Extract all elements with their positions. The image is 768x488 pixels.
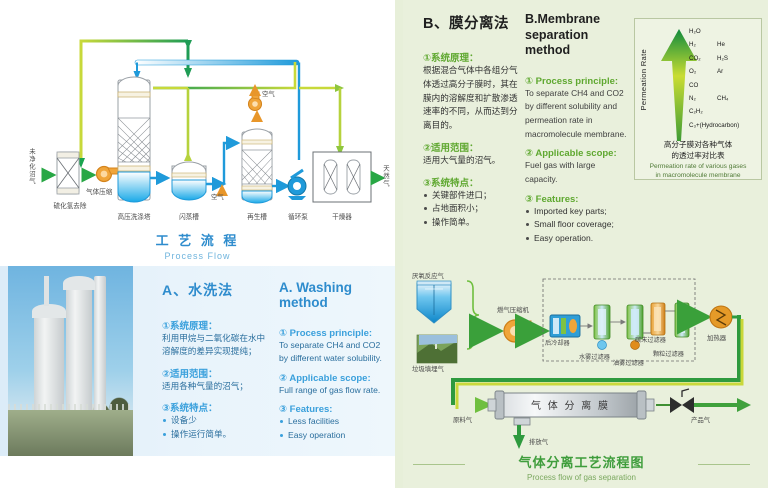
gas-right: H₂S [717, 55, 757, 68]
process-flow-title-en: Process Flow [0, 251, 395, 261]
washing-en-bullet-0: Less facilities [279, 415, 391, 429]
membrane-cn-bullet-0: 关键部件进口； [423, 189, 523, 203]
gas-row: CO₂ H₂S [689, 55, 761, 68]
membrane-cn-sec-1-body: 适用大气量的沼气。 [423, 154, 523, 168]
washing-cn-sec-0-body: 利用甲烷与二氧化碳在水中溶解度的差异实现提纯； [162, 332, 267, 359]
gas-left: CO₂ [689, 55, 717, 68]
gas-left: H₂O [689, 28, 717, 41]
washing-method-panel: A、水洗法 ①系统原理： 利用甲烷与二氧化碳在水中溶解度的差异实现提纯； ②适用… [0, 266, 395, 456]
gas-left: O₂ [689, 68, 717, 81]
title-rule-right [698, 464, 750, 465]
permeation-axis-label: Permeation Rate [639, 49, 648, 110]
title-rule-left [413, 464, 465, 465]
label-membrane-module: 气 体 分 离 膜 [499, 397, 642, 412]
permeation-caption-en-l2: in macromolecule membrane [635, 171, 761, 180]
gas-row: H₂ He [689, 41, 761, 54]
label-anaerobic-gas: 厌氧反应气 [412, 271, 444, 280]
washing-en-sec-2-title: ③ Features: [279, 404, 391, 415]
gas-left: N₂ [689, 95, 717, 108]
membrane-cn-sec-0-body: 根据混合气体中各组分气体透过高分子膜时，其在膜内的溶解度和扩散渗透速率的不同，从… [423, 64, 523, 133]
permeation-gas-list: H₂O H₂ He CO₂ H₂S O₂ Ar CO N₂ CH₄ [689, 28, 761, 135]
permeation-rate-chart: Permeation Rate H₂O H₂ He CO₂ [634, 18, 762, 180]
label-gas-compressor: 气体压缩 [86, 186, 138, 196]
process-flow-diagram: 未净化沼气 硫化氢去除 气体压缩 高压洗涤塔 闪蒸槽 再生槽 循环泵 干燥器 空… [0, 0, 395, 265]
label-washing-tower: 高压洗涤塔 [108, 211, 160, 221]
label-gas-compressor: 燃气压缩机 [497, 305, 529, 314]
membrane-cn-sec-0-title: ①系统原理： [423, 50, 523, 64]
label-air-mid: 空气 [211, 192, 224, 201]
label-air-top: 空气 [262, 89, 275, 98]
photo-tower-cap-a [32, 304, 66, 318]
photo-tower-cap-b [63, 276, 95, 290]
membrane-en-bullet-0: Imported key parts; [525, 205, 630, 219]
washing-cn-sec-1-body: 适用各种气量的沼气； [162, 380, 267, 393]
gas-right [717, 82, 757, 95]
gas-row: CO [689, 82, 761, 95]
photo-stack [44, 276, 49, 306]
permeation-caption-en: Permeation rate of various gases in macr… [635, 162, 761, 180]
photo-tower-a [34, 316, 64, 412]
washing-en-sec-1-title: ② Applicable scope: [279, 373, 391, 384]
label-heater: 加热器 [707, 333, 726, 342]
label-unpurified-biogas: 未净化沼气 [27, 148, 36, 185]
washing-en-sec-0-body: To separate CH4 and CO2 by different wat… [279, 339, 391, 366]
plant-photo [8, 266, 133, 456]
membrane-heading-cn: B、膜分离法 [423, 12, 523, 33]
membrane-en-bullet-2: Easy operation. [525, 232, 630, 246]
membrane-en-bullet-1: Small floor coverage; [525, 218, 630, 232]
label-after-cooler: 后冷却器 [545, 338, 570, 347]
gas-right: CH₄ [717, 95, 757, 108]
washing-cn-column: A、水洗法 ①系统原理： 利用甲烷与二氧化碳在水中溶解度的差异实现提纯； ②适用… [162, 280, 267, 441]
process-flow-title-cn: 工 艺 流 程 [0, 230, 395, 249]
page-root: 未净化沼气 硫化氢去除 气体压缩 高压洗涤塔 闪蒸槽 再生槽 循环泵 干燥器 空… [0, 0, 768, 488]
washing-cn-sec-1-title: ②适用范围： [162, 366, 267, 380]
washing-en-bullet-1: Easy operation [279, 429, 391, 443]
membrane-heading-en-l1: B.Membrane [525, 12, 630, 28]
gas-separation-diagram: 厌氧反应气 垃圾填埋气 燃气压缩机 后冷却器 水雾过滤器 油雾过滤器 碳末过滤器… [395, 265, 768, 455]
membrane-en-sec-1-body: Fuel gas with large capacity. [525, 159, 630, 186]
membrane-en-sec-2-title: ③ Features: [525, 194, 630, 205]
gas-row: C₂H₂ [689, 108, 761, 121]
label-particle-filter: 颗粒过滤器 [653, 349, 684, 358]
label-h2s-removal: 硫化氢去除 [44, 200, 96, 210]
membrane-heading-en-l2: separation method [525, 28, 630, 59]
label-dryer: 干燥器 [316, 211, 368, 221]
process-flow-svg [0, 0, 395, 265]
washing-cn-sec-0-title: ①系统原理： [162, 318, 267, 332]
membrane-en-sec-0-title: ① Process principle: [525, 76, 630, 87]
permeation-caption-cn-l1: 高分子膜对各种气体 [635, 139, 761, 150]
permeation-caption-cn: 高分子膜对各种气体 的透过率对比表 [635, 139, 761, 161]
washing-cn-sec-2-title: ③系统特点： [162, 400, 267, 414]
gas-right: He [717, 41, 757, 54]
gas-separation-title-cn: 气体分离工艺流程图 [395, 452, 768, 471]
label-water-mist-filter: 水雾过滤器 [579, 352, 610, 361]
permeation-caption-cn-l2: 的透过率对比表 [635, 150, 761, 161]
gas-row: N₂ CH₄ [689, 95, 761, 108]
washing-cn-bullet-0: 设备少 [162, 414, 267, 428]
photo-ground [8, 410, 133, 456]
washing-en-column: A. Washing method ① Process principle: T… [279, 280, 391, 442]
label-flash-tank: 闪蒸槽 [163, 211, 215, 221]
gas-left: C₃+(Hydrocarbon) [689, 122, 739, 135]
label-product-gas: 产品气 [691, 415, 710, 424]
process-flow-title: 工 艺 流 程 Process Flow [0, 230, 395, 261]
gas-row: O₂ Ar [689, 68, 761, 81]
washing-en-sec-0-title: ① Process principle: [279, 328, 391, 339]
washing-cn-bullet-1: 操作运行简单。 [162, 428, 267, 442]
gas-right: Ar [717, 68, 757, 81]
membrane-en-sec-1-title: ② Applicable scope: [525, 148, 630, 159]
label-oil-mist-filter: 油雾过滤器 [613, 358, 644, 367]
washing-heading-en: A. Washing method [279, 280, 391, 310]
washing-heading-cn: A、水洗法 [162, 280, 267, 300]
gas-left: C₂H₂ [689, 108, 717, 121]
label-carbon-dust-filter: 碳末过滤器 [635, 335, 666, 344]
membrane-en-column: B.Membrane separation method ① Process p… [525, 12, 630, 246]
label-natural-gas: 天然气 [381, 165, 390, 187]
washing-en-sec-1-body: Full range of gas flow rate. [279, 384, 391, 397]
gas-separation-title: 气体分离工艺流程图 Process flow of gas separation [395, 452, 768, 482]
membrane-cn-bullet-1: 占地面积小； [423, 202, 523, 216]
photo-tower-c [94, 276, 106, 412]
gas-separation-title-en: Process flow of gas separation [395, 473, 768, 482]
label-landfill-gas: 垃圾填埋气 [412, 364, 444, 373]
gas-row: H₂O [689, 28, 761, 41]
gas-left: CO [689, 82, 717, 95]
gas-row: C₃+(Hydrocarbon) [689, 122, 761, 135]
label-feed-gas: 原料气 [453, 415, 472, 424]
gas-left: H₂ [689, 41, 717, 54]
gas-right [717, 28, 757, 41]
membrane-cn-bullet-2: 操作简单。 [423, 216, 523, 230]
photo-tower-b [66, 288, 92, 412]
label-exhaust-gas: 排放气 [529, 437, 548, 446]
membrane-en-sec-0-body: To separate CH4 and CO2 by different sol… [525, 87, 630, 141]
permeation-caption-en-l1: Permeation rate of various gases [635, 162, 761, 171]
membrane-cn-column: B、膜分离法 ①系统原理： 根据混合气体中各组分气体透过高分子膜时，其在膜内的溶… [423, 12, 523, 230]
membrane-cn-sec-2-title: ③系统特点： [423, 175, 523, 189]
gas-right [717, 108, 757, 121]
membrane-cn-sec-1-title: ②适用范围： [423, 140, 523, 154]
